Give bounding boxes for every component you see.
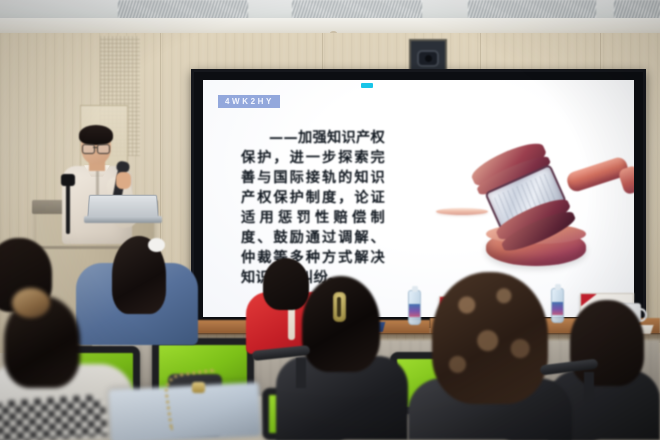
screen-cyan-marker [361,83,373,88]
gavel-illustration [428,120,618,280]
hair-accessory [148,238,165,252]
bottle-label [409,304,420,317]
hair-clip-icon [333,292,346,322]
slide-watermark: 4WK2HY [218,95,280,108]
chair-post [296,358,306,388]
attendee-hair-clip-hair [302,276,380,372]
scale-pan-left [436,208,488,215]
chair-post [584,372,594,402]
speaker-hand [116,172,131,189]
attendee-right-dark-hair [570,300,644,386]
hair-bun [12,288,50,318]
handbag-clasp-icon [192,382,205,393]
conference-room-photo: 4WK2HY ——加强知识产权保护，进一步探索完善与国际接轨的知识产权保护制度，… [0,0,660,440]
eyeglasses-icon [82,144,110,152]
attendee-red-top-hair [263,258,309,310]
speaker-hair [79,125,113,145]
attendee-curly-hair [432,272,548,404]
microphone-stand [66,178,70,234]
podium-laptop-base[interactable] [84,216,162,223]
water-bottle [551,288,564,323]
bottle-label [552,302,563,315]
handbag-chain-strap [162,369,222,431]
attendee-striped-top [0,394,107,440]
slide-body-text: ——加强知识产权保护，进一步探索完善与国际接轨的知识产权保护制度，论证适用惩罚性… [241,128,385,288]
water-bottle [408,290,421,325]
